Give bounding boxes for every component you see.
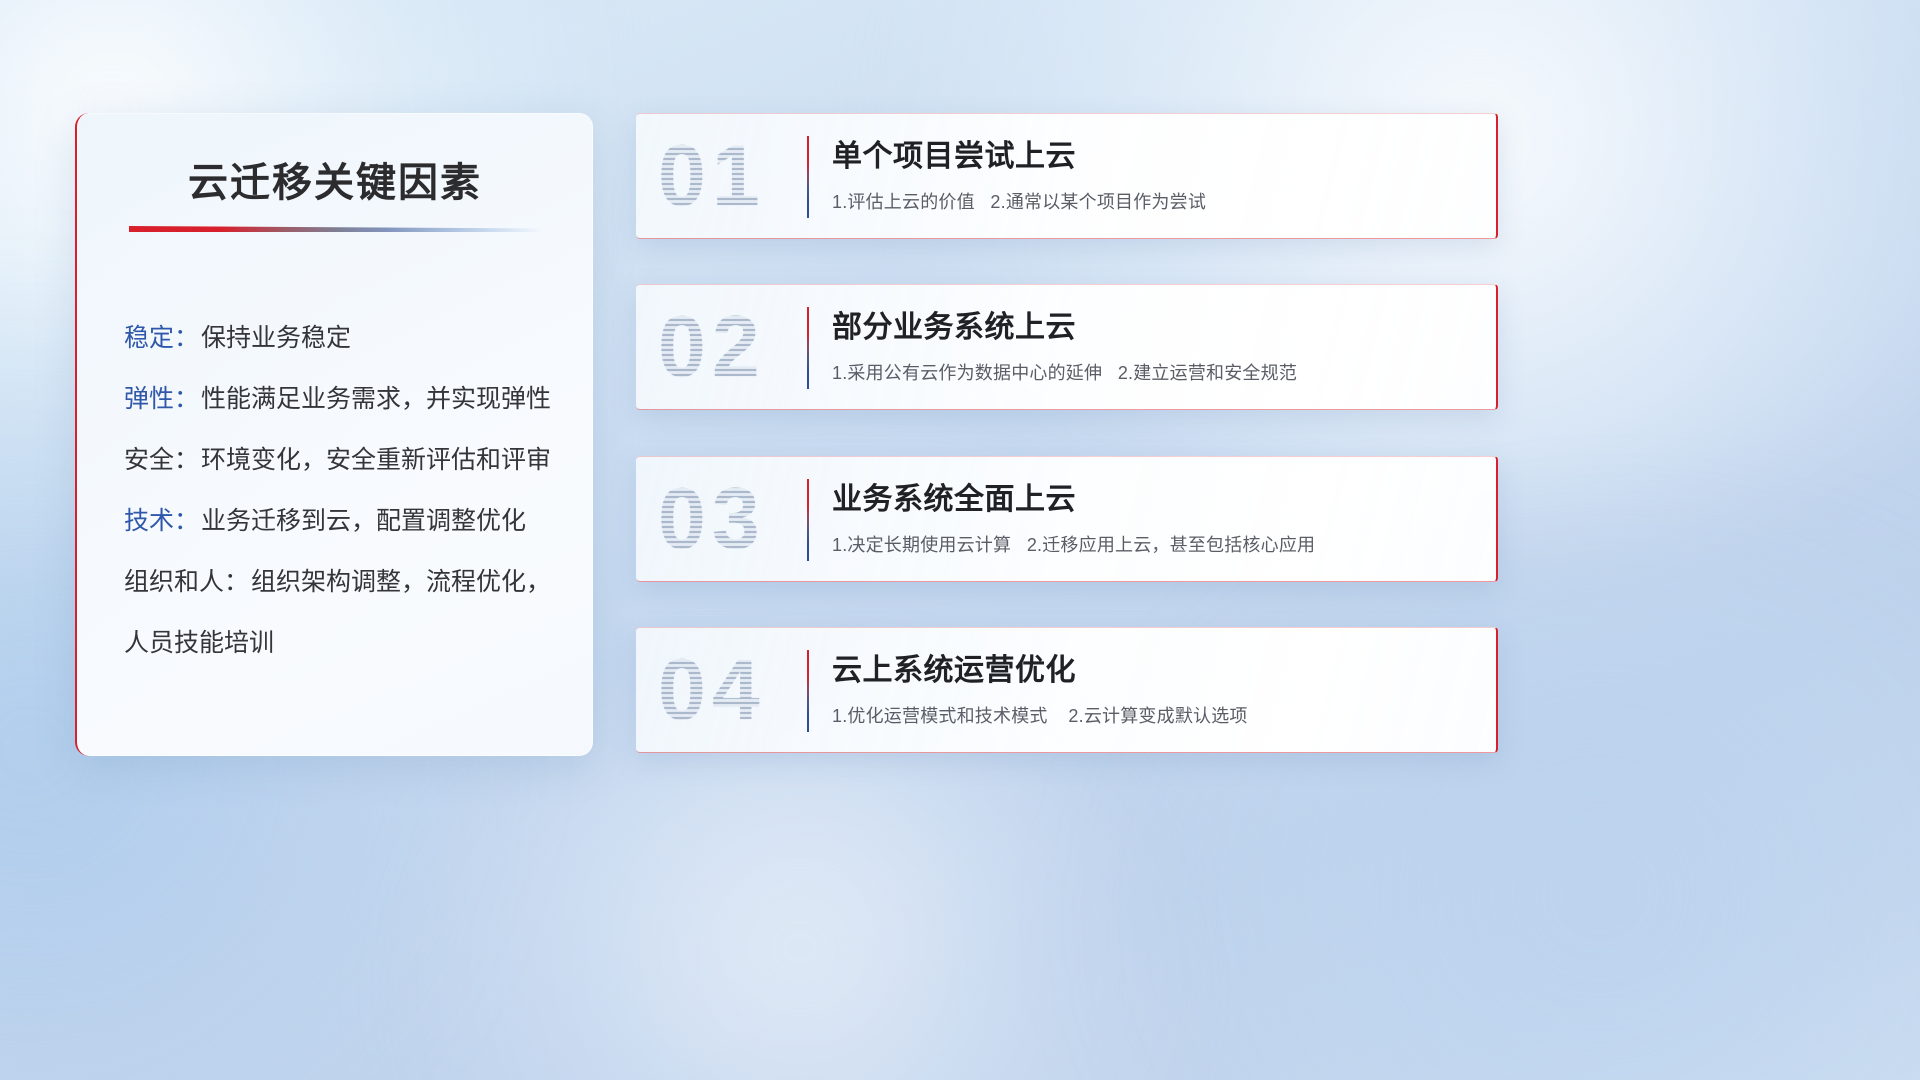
factor-text: 业务迁移到云，配置调整优化 bbox=[201, 507, 526, 535]
step-card[interactable]: 04 04 云上系统运营优化 1.优化运营模式和技术模式 2.云计算变成默认选项 bbox=[636, 627, 1498, 753]
step-title: 单个项目尝试上云 bbox=[832, 138, 1474, 176]
factor-label: 组织和人： bbox=[124, 568, 249, 596]
step-card[interactable]: 01 01 单个项目尝试上云 1.评估上云的价值 2.通常以某个项目作为尝试 bbox=[636, 113, 1498, 239]
factor-text-continued: 人员技能培训 bbox=[124, 629, 274, 657]
key-factors-panel: 云迁移关键因素 稳定：保持业务稳定 弹性：性能满足业务需求，并实现弹性 安全：环… bbox=[75, 113, 593, 756]
step-divider bbox=[807, 136, 809, 218]
step-description: 1.优化运营模式和技术模式 2.云计算变成默认选项 bbox=[832, 704, 1474, 728]
step-number: 03 bbox=[658, 476, 766, 562]
factor-label: 弹性： bbox=[124, 385, 199, 413]
slide-canvas: 云迁移关键因素 稳定：保持业务稳定 弹性：性能满足业务需求，并实现弹性 安全：环… bbox=[0, 0, 1920, 1080]
background-glow-bottom-center bbox=[420, 700, 1180, 1080]
step-divider bbox=[807, 479, 809, 561]
page-title: 云迁移关键因素 bbox=[77, 150, 593, 208]
step-body: 云上系统运营优化 1.优化运营模式和技术模式 2.云计算变成默认选项 bbox=[832, 652, 1474, 728]
step-body: 部分业务系统上云 1.采用公有云作为数据中心的延伸 2.建立运营和安全规范 bbox=[832, 309, 1474, 385]
step-title: 部分业务系统上云 bbox=[832, 309, 1474, 347]
step-number: 04 bbox=[658, 647, 766, 733]
list-item: 弹性：性能满足业务需求，并实现弹性 bbox=[124, 369, 569, 430]
step-card[interactable]: 03 03 业务系统全面上云 1.决定长期使用云计算 2.迁移应用上云，甚至包括… bbox=[636, 456, 1498, 582]
list-item: 组织和人：组织架构调整，流程优化， 人员技能培训 bbox=[124, 552, 569, 674]
factor-text: 性能满足业务需求，并实现弹性 bbox=[201, 385, 551, 413]
step-title: 云上系统运营优化 bbox=[832, 652, 1474, 690]
step-divider bbox=[807, 650, 809, 732]
step-number: 01 bbox=[658, 133, 766, 219]
step-description: 1.决定长期使用云计算 2.迁移应用上云，甚至包括核心应用 bbox=[832, 533, 1474, 557]
step-divider bbox=[807, 307, 809, 389]
step-body: 业务系统全面上云 1.决定长期使用云计算 2.迁移应用上云，甚至包括核心应用 bbox=[832, 481, 1474, 557]
background-glow-top-right bbox=[880, 0, 1920, 520]
step-number: 02 bbox=[658, 304, 766, 390]
factor-text: 组织架构调整，流程优化， bbox=[251, 568, 551, 596]
step-card[interactable]: 02 02 部分业务系统上云 1.采用公有云作为数据中心的延伸 2.建立运营和安… bbox=[636, 284, 1498, 410]
step-description: 1.采用公有云作为数据中心的延伸 2.建立运营和安全规范 bbox=[832, 361, 1474, 385]
factor-label: 稳定： bbox=[124, 324, 199, 352]
title-underline-rule bbox=[129, 226, 544, 232]
factor-text: 保持业务稳定 bbox=[201, 324, 351, 352]
list-item: 技术：业务迁移到云，配置调整优化 bbox=[124, 491, 569, 552]
step-body: 单个项目尝试上云 1.评估上云的价值 2.通常以某个项目作为尝试 bbox=[832, 138, 1474, 214]
factor-label: 安全： bbox=[124, 446, 199, 474]
list-item: 安全：环境变化，安全重新评估和评审 bbox=[124, 430, 569, 491]
step-description: 1.评估上云的价值 2.通常以某个项目作为尝试 bbox=[832, 190, 1474, 214]
factor-text: 环境变化，安全重新评估和评审 bbox=[201, 446, 551, 474]
factor-label: 技术： bbox=[124, 507, 199, 535]
factor-list: 稳定：保持业务稳定 弹性：性能满足业务需求，并实现弹性 安全：环境变化，安全重新… bbox=[124, 308, 569, 674]
list-item: 稳定：保持业务稳定 bbox=[124, 308, 569, 369]
step-title: 业务系统全面上云 bbox=[832, 481, 1474, 519]
